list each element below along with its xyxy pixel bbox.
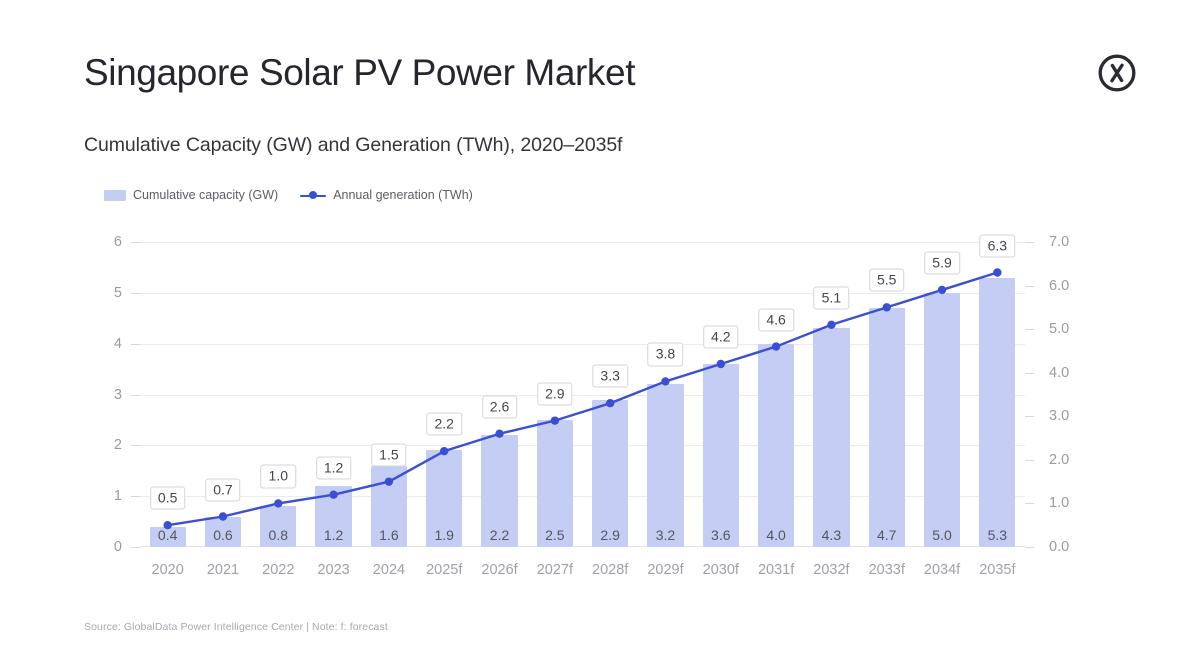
line-data-point[interactable] (827, 321, 835, 329)
right-axis-tick (1025, 373, 1034, 374)
x-axis-label: 2024 (373, 562, 405, 578)
line-data-point[interactable] (993, 268, 1001, 276)
line-value-label: 2.6 (482, 395, 517, 418)
line-data-point[interactable] (440, 447, 448, 455)
line-value-label: 5.9 (924, 251, 959, 274)
line-data-point[interactable] (163, 521, 171, 529)
left-axis-tick (131, 242, 140, 243)
left-axis-label: 2 (114, 437, 122, 453)
x-axis-label: 2023 (317, 562, 349, 578)
line-data-point[interactable] (495, 430, 503, 438)
right-axis-tick (1025, 547, 1034, 548)
right-axis-label: 1.0 (1049, 495, 1069, 511)
line-data-point[interactable] (938, 286, 946, 294)
globaldata-circle-logo-icon (1096, 52, 1138, 94)
line-value-label: 1.2 (316, 456, 351, 479)
chart-plot-area: 0123456 0.01.02.03.04.05.06.07.0 0.40.60… (140, 242, 1025, 547)
x-axis-label: 2020 (152, 562, 184, 578)
line-value-label: 0.5 (150, 487, 185, 510)
line-data-point[interactable] (772, 342, 780, 350)
left-axis-label: 3 (114, 387, 122, 403)
line-value-label: 5.5 (869, 269, 904, 292)
right-axis-label: 4.0 (1049, 365, 1069, 381)
line-data-point[interactable] (329, 491, 337, 499)
page-subtitle: Cumulative Capacity (GW) and Generation … (84, 134, 622, 157)
left-axis-label: 6 (114, 234, 122, 250)
right-axis-tick (1025, 329, 1034, 330)
left-axis-label: 0 (114, 539, 122, 555)
left-axis-tick (131, 344, 140, 345)
page-title: Singapore Solar PV Power Market (84, 52, 635, 94)
left-axis-label: 5 (114, 285, 122, 301)
line-value-label: 1.5 (371, 443, 406, 466)
right-axis-label: 5.0 (1049, 321, 1069, 337)
line-data-point[interactable] (551, 416, 559, 424)
x-axis-label: 2025f (426, 562, 462, 578)
chart-legend: Cumulative capacity (GW) Annual generati… (104, 188, 473, 202)
left-axis-label: 1 (114, 488, 122, 504)
left-axis-tick (131, 293, 140, 294)
line-data-point[interactable] (661, 377, 669, 385)
line-value-label: 4.6 (758, 308, 793, 331)
legend-swatch-line-icon (300, 190, 326, 201)
line-data-point[interactable] (883, 303, 891, 311)
line-value-label: 3.8 (648, 343, 683, 366)
left-axis-label: 4 (114, 336, 122, 352)
x-axis-label: 2035f (979, 562, 1015, 578)
left-axis-tick (131, 445, 140, 446)
x-axis-label: 2022 (262, 562, 294, 578)
x-axis-label: 2033f (869, 562, 905, 578)
x-axis-label: 2032f (813, 562, 849, 578)
legend-label-capacity: Cumulative capacity (GW) (133, 188, 278, 202)
line-value-label: 4.2 (703, 325, 738, 348)
line-value-label: 6.3 (980, 234, 1015, 257)
line-data-point[interactable] (606, 399, 614, 407)
legend-label-generation: Annual generation (TWh) (333, 188, 473, 202)
x-axis-label: 2027f (537, 562, 573, 578)
x-axis-label: 2030f (703, 562, 739, 578)
right-axis-tick (1025, 416, 1034, 417)
right-axis-label: 2.0 (1049, 452, 1069, 468)
x-axis-label: 2029f (647, 562, 683, 578)
right-axis-label: 6.0 (1049, 278, 1069, 294)
legend-swatch-bar-icon (104, 190, 126, 201)
line-data-point[interactable] (274, 499, 282, 507)
legend-item-generation[interactable]: Annual generation (TWh) (300, 188, 473, 202)
left-axis-tick (131, 496, 140, 497)
line-data-point[interactable] (717, 360, 725, 368)
right-axis-tick (1025, 460, 1034, 461)
line-value-label: 0.7 (205, 478, 240, 501)
source-note: Source: GlobalData Power Intelligence Ce… (84, 621, 388, 633)
x-axis-label: 2031f (758, 562, 794, 578)
line-value-label: 5.1 (814, 286, 849, 309)
line-value-label: 3.3 (592, 365, 627, 388)
right-axis-tick (1025, 242, 1034, 243)
right-axis-label: 0.0 (1049, 539, 1069, 555)
line-data-point[interactable] (385, 477, 393, 485)
left-axis-tick (131, 395, 140, 396)
line-value-label: 2.2 (426, 413, 461, 436)
x-axis-label: 2026f (481, 562, 517, 578)
right-axis-label: 7.0 (1049, 234, 1069, 250)
line-data-point[interactable] (219, 512, 227, 520)
right-axis-label: 3.0 (1049, 408, 1069, 424)
line-value-label: 1.0 (261, 465, 296, 488)
right-axis-tick (1025, 286, 1034, 287)
x-axis-label: 2028f (592, 562, 628, 578)
right-axis-tick (1025, 503, 1034, 504)
line-value-label: 2.9 (537, 382, 572, 405)
legend-item-capacity[interactable]: Cumulative capacity (GW) (104, 188, 278, 202)
x-axis-label: 2034f (924, 562, 960, 578)
left-axis-tick (131, 547, 140, 548)
x-axis-label: 2021 (207, 562, 239, 578)
